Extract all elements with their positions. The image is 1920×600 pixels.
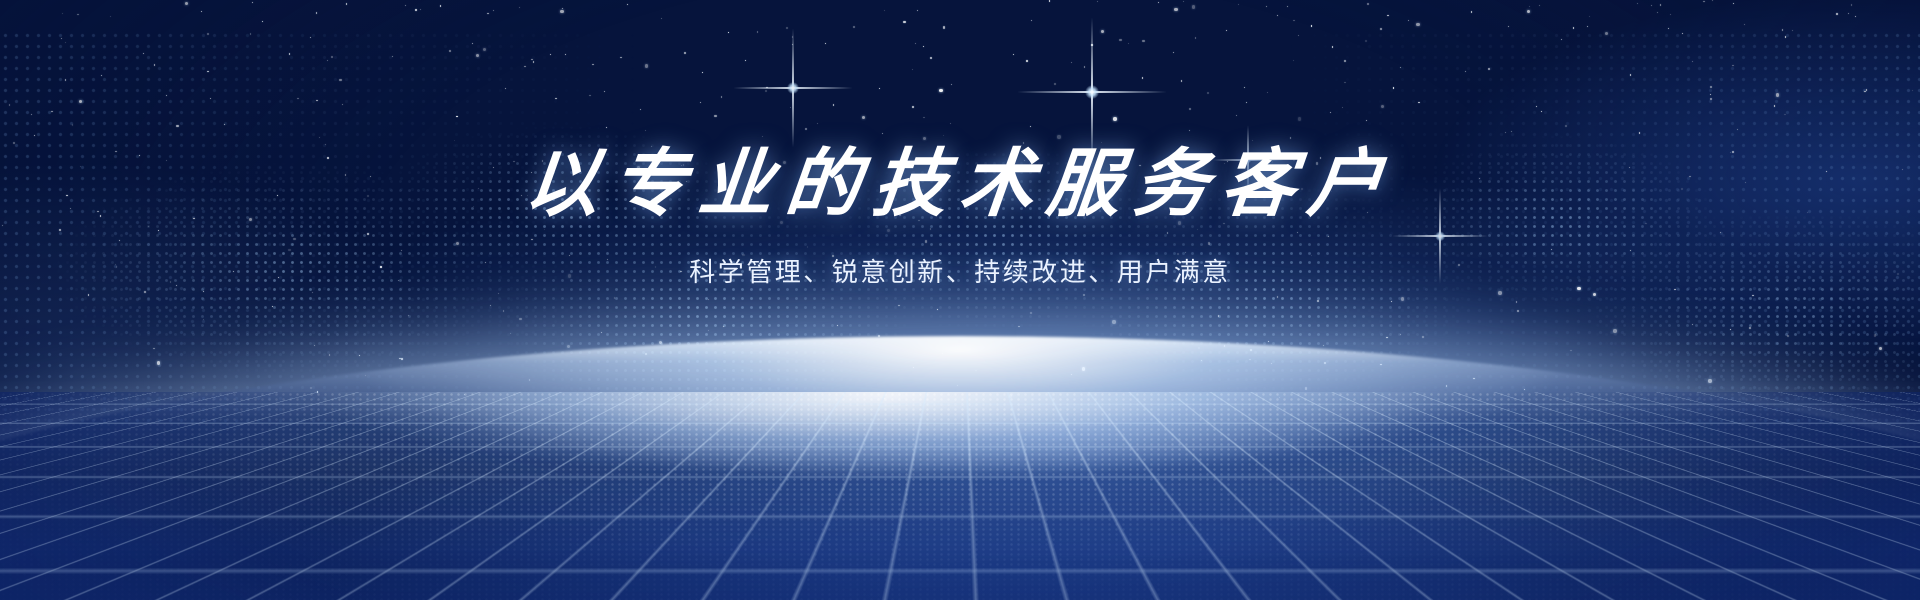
banner-copy: 以专业的技术服务客户 科学管理、锐意创新、持续改进、用户满意 — [0, 0, 1920, 600]
hero-banner: 以专业的技术服务客户 科学管理、锐意创新、持续改进、用户满意 — [0, 0, 1920, 600]
banner-headline: 以专业的技术服务客户 — [521, 148, 1399, 222]
banner-subheadline: 科学管理、锐意创新、持续改进、用户满意 — [689, 252, 1231, 289]
